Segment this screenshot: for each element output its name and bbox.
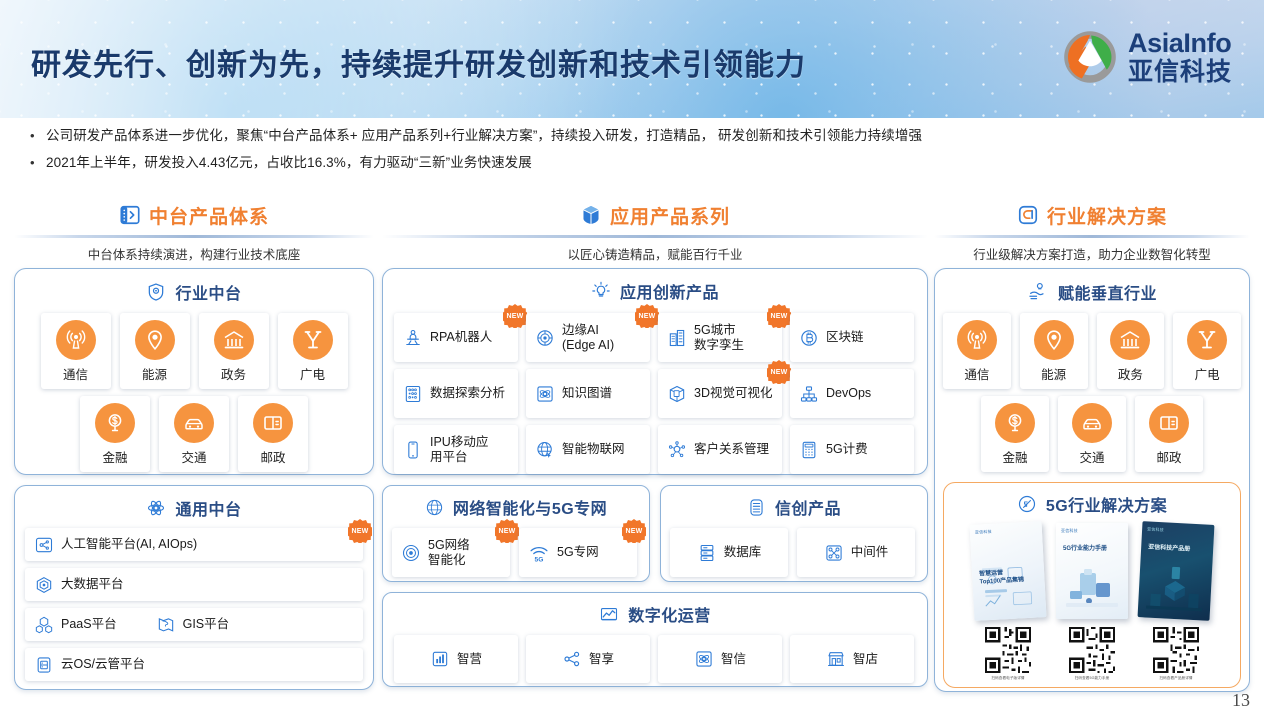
tile-label: 通信 <box>964 364 989 383</box>
column-divider <box>934 235 1250 238</box>
product-card-5g-private-network[interactable]: 5G 5G专网 NEW <box>519 528 637 577</box>
panel-network-5g: 网络智能化与5G专网 5G网络 智能化 NEW 5G 5G专网 NEW <box>382 485 650 582</box>
product-label: 数据库 <box>724 545 762 560</box>
panel-industry-midplatform: 行业中台 通信 能源 <box>14 268 374 475</box>
logo-text-cn: 亚信科技 <box>1128 60 1232 85</box>
product-card-3d-visual[interactable]: 3D视觉可视化 NEW <box>658 369 782 418</box>
vertical-industry-row-1: 通信 能源 政务 广电 <box>943 313 1241 389</box>
tile-telecom[interactable]: 通信 <box>41 313 111 389</box>
product-label: 云OS/云管平台 <box>61 657 145 672</box>
column-subtitle: 行业级解决方案打造，助力企业数智化转型 <box>934 244 1250 262</box>
globe-iot-icon <box>535 440 555 460</box>
wifi-5g-icon: 5G <box>528 543 550 563</box>
product-card-5g-digital-twin[interactable]: 5G城市 数字孪生 NEW <box>658 313 782 362</box>
tile-transport[interactable]: 交通 <box>1058 396 1126 472</box>
product-card-5g-network-intelligence[interactable]: 5G网络 智能化 NEW <box>392 528 510 577</box>
location-pin-icon <box>1034 320 1074 360</box>
bullet-marker: • <box>30 153 46 172</box>
logo-mark-icon <box>1061 28 1119 86</box>
bar-chart-icon <box>430 649 450 669</box>
tile-label: 交通 <box>1079 447 1104 466</box>
signal-tower-icon <box>957 320 997 360</box>
product-label: 边缘AI (Edge AI) <box>562 323 614 353</box>
product-label: 智享 <box>589 652 614 667</box>
column-header: 行业解决方案 <box>934 200 1250 230</box>
booklet-item[interactable]: 亚信科技 5G行业能力手册 <box>1056 523 1128 681</box>
lightbulb-icon <box>591 281 611 301</box>
edge-ai-icon <box>535 328 555 348</box>
qr-code-1[interactable] <box>985 627 1031 673</box>
knowledge-graph-icon <box>535 384 555 404</box>
panel-title-row: 信创产品 <box>670 492 918 522</box>
tile-energy[interactable]: 能源 <box>1020 313 1088 389</box>
panel-title: 网络智能化与5G专网 <box>453 495 607 519</box>
panel-title: 5G行业解决方案 <box>1046 492 1167 516</box>
devops-tree-icon <box>799 384 819 404</box>
new-badge: NEW <box>767 360 791 384</box>
product-card-zhiying[interactable]: 智营 <box>394 635 518 683</box>
product-label: 区块链 <box>826 330 864 345</box>
product-card-ipu-mobile[interactable]: IPU移动应 用平台 <box>394 425 518 474</box>
broadcast-antenna-icon <box>1187 320 1227 360</box>
product-label: PaaS平台 <box>61 617 117 632</box>
booklet-brand: 亚信科技 <box>975 529 992 536</box>
product-label: DevOps <box>826 386 871 401</box>
booklet-title: 智慧运营 Top100产品集锦 <box>979 568 1024 586</box>
tile-label: 金融 <box>1002 447 1027 466</box>
dollar-icon <box>995 403 1035 443</box>
panel-5g-solutions: 5G行业解决方案 亚信科技 <box>943 482 1241 688</box>
product-label: 5G专网 <box>557 545 599 560</box>
column-title: 行业解决方案 <box>1047 202 1167 229</box>
innovative-apps-row-1: RPA机器人 NEW 边缘AI (Edge AI) NEW 5G城市 数字孪生 … <box>394 313 916 362</box>
tile-label: 政务 <box>1118 364 1143 383</box>
atom-square-icon <box>694 649 714 669</box>
product-card-cloudos[interactable]: 云OS/云管平台 <box>25 648 363 681</box>
hand-bulb-icon <box>1027 281 1049 303</box>
product-label: 智店 <box>853 652 878 667</box>
tile-government[interactable]: 政务 <box>199 313 269 389</box>
product-card-paas-gis[interactable]: PaaS平台 GIS平台 <box>25 608 363 641</box>
mobile-phone-icon <box>403 440 423 460</box>
product-label: 中间件 <box>851 545 889 560</box>
booklet-title: 5G行业能力手册 <box>1063 545 1107 553</box>
page-number: 13 <box>1232 690 1250 711</box>
crm-network-icon <box>667 440 687 460</box>
tile-label: 交通 <box>181 447 206 466</box>
product-card-crm[interactable]: 客户关系管理 <box>658 425 782 474</box>
digital-operations-cards: 智营 智享 智信 智店 <box>394 635 916 683</box>
product-card-5g-billing[interactable]: 5G计费 <box>790 425 914 474</box>
innovative-apps-row-2: 数据探索分析 知识图谱 3D视觉可视化 NEW DevOps <box>394 369 916 418</box>
tile-post[interactable]: 邮政 <box>1135 396 1203 472</box>
column-midplatform: 中台产品体系 中台体系持续演进，构建行业技术底座 行业中台 通信 <box>14 200 374 690</box>
globe-network-icon <box>425 498 444 517</box>
bullet-marker: • <box>30 126 46 145</box>
panel-general-midplatform: 通用中台 人工智能平台(AI, AIOps) NEW 大数据平台 Paa <box>14 485 374 690</box>
product-label: GIS平台 <box>183 617 230 632</box>
tile-label: 通信 <box>63 364 88 383</box>
product-label: 5G城市 数字孪生 <box>694 323 744 353</box>
bullet-list: • 公司研发产品体系进一步优化，聚焦“中台产品体系+ 应用产品系列+行业解决方案… <box>0 126 1264 180</box>
new-badge: NEW <box>495 519 519 543</box>
3d-visual-icon <box>667 384 687 404</box>
cube-stack-icon <box>34 615 54 635</box>
product-card-ai-platform[interactable]: 人工智能平台(AI, AIOps) NEW <box>25 528 363 561</box>
column-header: 应用产品系列 <box>382 200 928 230</box>
panel-title: 信创产品 <box>775 495 841 519</box>
bank-icon <box>214 320 254 360</box>
panel-title: 行业中台 <box>175 280 241 304</box>
mid-secondary-panels: 网络智能化与5G专网 5G网络 智能化 NEW 5G 5G专网 NEW <box>382 485 928 582</box>
product-card-data-analysis[interactable]: 数据探索分析 <box>394 369 518 418</box>
column-title: 中台产品体系 <box>149 202 269 229</box>
share-nodes-icon <box>34 535 54 555</box>
product-label: 5G计费 <box>826 442 868 457</box>
innovative-apps-row-3: IPU移动应 用平台 智能物联网 客户关系管理 5G计费 <box>394 425 916 474</box>
hexagon-data-icon <box>34 575 54 595</box>
booklet-cover-3: 亚信科技 亚信科技产品册 <box>1138 521 1215 621</box>
xinchuang-cards: 数据库 中间件 <box>670 528 918 577</box>
bullet-item: • 公司研发产品体系进一步优化，聚焦“中台产品体系+ 应用产品系列+行业解决方案… <box>30 126 1264 145</box>
asiainfo-logo: AsiaInfo 亚信科技 <box>1061 28 1232 86</box>
product-label: 大数据平台 <box>61 577 124 592</box>
column-header: 中台产品体系 <box>14 200 374 230</box>
logo-text-en: AsiaInfo <box>1128 30 1232 57</box>
panel-title-row: 网络智能化与5G专网 <box>392 492 640 522</box>
atom-icon <box>146 498 166 518</box>
panel-title: 数字化运营 <box>628 602 711 626</box>
dollar-icon <box>95 403 135 443</box>
mailbox-icon <box>1149 403 1189 443</box>
new-badge: NEW <box>767 304 791 328</box>
booklet-brand: 亚信科技 <box>1061 528 1078 534</box>
shield-industry-icon <box>146 282 166 302</box>
booklet-cover-1: 亚信科技 智慧运营 Top100产品集锦 <box>970 521 1047 621</box>
tile-label: 广电 <box>1195 364 1220 383</box>
product-label: 智营 <box>457 652 482 667</box>
bitcoin-icon <box>799 328 819 348</box>
column-application-products: 应用产品系列 以匠心铸造精品，赋能百行千业 应用创新产品 RPA机器人 NEW <box>382 200 928 687</box>
product-label: IPU移动应 用平台 <box>430 435 488 465</box>
page-title: 研发先行、创新为先，持续提升研发创新和技术引领能力 <box>31 40 806 84</box>
tile-label: 政务 <box>221 364 246 383</box>
column-subtitle: 中台体系持续演进，构建行业技术底座 <box>14 244 374 262</box>
tile-label: 能源 <box>142 364 167 383</box>
vertical-industry-row-2: 金融 交通 邮政 <box>943 396 1241 472</box>
product-card-knowledge-graph[interactable]: 知识图谱 <box>526 369 650 418</box>
product-card-edge-ai[interactable]: 边缘AI (Edge AI) NEW <box>526 313 650 362</box>
slide-header: 研发先行、创新为先，持续提升研发创新和技术引领能力 AsiaInfo 亚信科技 <box>0 0 1264 118</box>
bank-icon <box>1110 320 1150 360</box>
city-building-icon <box>667 328 687 348</box>
tile-government[interactable]: 政务 <box>1097 313 1165 389</box>
product-card-rpa[interactable]: RPA机器人 NEW <box>394 313 518 362</box>
product-card-zhidian[interactable]: 智店 <box>790 635 914 683</box>
car-icon <box>174 403 214 443</box>
mailbox-icon <box>253 403 293 443</box>
midplatform-icon <box>119 204 141 226</box>
product-card-bigdata-platform[interactable]: 大数据平台 <box>25 568 363 601</box>
booklet-item[interactable]: 亚信科技 智慧运营 Top100产品集锦 <box>972 523 1044 681</box>
product-card-blockchain[interactable]: 区块链 <box>790 313 914 362</box>
network-5g-cards: 5G网络 智能化 NEW 5G 5G专网 NEW <box>392 528 640 577</box>
qr-code-3[interactable] <box>1153 627 1199 673</box>
tile-label: 广电 <box>300 364 325 383</box>
car-icon <box>1072 403 1112 443</box>
industry-tile-row-2: 金融 交通 邮政 <box>25 396 363 472</box>
bullet-text: 2021年上半年，研发投入4.43亿元，占收比16.3%，有力驱动“三新”业务快… <box>46 153 532 172</box>
panel-title-row: 5G行业解决方案 <box>950 489 1234 519</box>
panel-digital-operations: 数字化运营 智营 智享 智信 智店 <box>382 592 928 687</box>
column-industry-solutions: 行业解决方案 行业级解决方案打造，助力企业数智化转型 赋能垂直行业 <box>934 200 1250 692</box>
tile-energy[interactable]: 能源 <box>120 313 190 389</box>
tile-label: 邮政 <box>1156 447 1181 466</box>
new-badge: NEW <box>635 304 659 328</box>
solution-icon <box>1017 204 1039 226</box>
document-stack-icon <box>747 498 766 517</box>
product-card-zhixiang[interactable]: 智享 <box>526 635 650 683</box>
panel-innovative-apps: 应用创新产品 RPA机器人 NEW 边缘AI (Edge AI) NEW 5G城… <box>382 268 928 475</box>
product-label: 智信 <box>721 652 746 667</box>
tile-label: 能源 <box>1041 364 1066 383</box>
tile-finance[interactable]: 金融 <box>981 396 1049 472</box>
5g-solution-icon <box>1017 494 1037 514</box>
booklet-title: 亚信科技产品册 <box>1148 544 1190 554</box>
trend-chart-icon <box>599 604 619 624</box>
product-card-zhixin[interactable]: 智信 <box>658 635 782 683</box>
tile-label: 邮政 <box>260 447 285 466</box>
middleware-icon <box>824 543 844 563</box>
share-icon <box>562 649 582 669</box>
panel-title: 赋能垂直行业 <box>1058 280 1157 304</box>
map-icon <box>156 615 176 635</box>
product-label: 智能物联网 <box>562 442 625 457</box>
broadcast-antenna-icon <box>293 320 333 360</box>
database-icon <box>697 543 717 563</box>
tile-telecom[interactable]: 通信 <box>943 313 1011 389</box>
panel-title-row: 行业中台 <box>25 277 363 307</box>
cube-product-icon <box>580 204 602 226</box>
tile-label: 金融 <box>102 447 127 466</box>
tile-transport[interactable]: 交通 <box>159 396 229 472</box>
product-card-middleware[interactable]: 中间件 <box>797 528 915 577</box>
signal-tower-icon <box>56 320 96 360</box>
industry-tile-row-1: 通信 能源 政务 广电 <box>25 313 363 389</box>
product-label: RPA机器人 <box>430 330 492 345</box>
bullet-text: 公司研发产品体系进一步优化，聚焦“中台产品体系+ 应用产品系列+行业解决方案”，… <box>46 126 922 145</box>
booklet-artwork-3 <box>1144 563 1206 612</box>
data-analysis-icon <box>403 384 423 404</box>
product-card-devops[interactable]: DevOps <box>790 369 914 418</box>
booklet-gallery: 亚信科技 智慧运营 Top100产品集锦 <box>950 519 1234 681</box>
bullet-item: • 2021年上半年，研发投入4.43亿元，占收比16.3%，有力驱动“三新”业… <box>30 153 1264 172</box>
tile-finance[interactable]: 金融 <box>80 396 150 472</box>
location-pin-icon <box>135 320 175 360</box>
content-columns: 中台产品体系 中台体系持续演进，构建行业技术底座 行业中台 通信 <box>0 200 1264 713</box>
product-label: 客户关系管理 <box>694 442 769 457</box>
panel-title-row: 赋能垂直行业 <box>943 277 1241 307</box>
booklet-item[interactable]: 亚信科技 亚信科技产品册 <box>1140 523 1212 681</box>
panel-title: 应用创新产品 <box>620 279 719 303</box>
panel-industry-solutions-outer: 赋能垂直行业 通信 能源 <box>934 268 1250 692</box>
panel-title: 通用中台 <box>175 496 241 520</box>
column-divider <box>382 235 928 238</box>
tile-broadcast[interactable]: 广电 <box>1173 313 1241 389</box>
svg-text:5G: 5G <box>535 556 544 563</box>
panel-title-row: 应用创新产品 <box>394 276 916 306</box>
target-circle-icon <box>401 543 421 563</box>
new-badge: NEW <box>503 304 527 328</box>
robot-icon <box>403 328 423 348</box>
panel-title-row: 通用中台 <box>25 493 363 523</box>
panel-xinchuang: 信创产品 数据库 中间件 <box>660 485 928 582</box>
column-divider <box>14 235 374 238</box>
product-label: 5G网络 智能化 <box>428 538 470 568</box>
new-badge: NEW <box>622 519 646 543</box>
store-icon <box>826 649 846 669</box>
panel-title-row: 数字化运营 <box>394 599 916 629</box>
tile-post[interactable]: 邮政 <box>238 396 308 472</box>
booklet-artwork-2 <box>1062 565 1122 611</box>
column-title: 应用产品系列 <box>610 202 730 229</box>
product-card-database[interactable]: 数据库 <box>670 528 788 577</box>
product-label: 数据探索分析 <box>430 386 505 401</box>
qr-code-2[interactable] <box>1069 627 1115 673</box>
product-label: 3D视觉可视化 <box>694 386 772 401</box>
product-card-smart-iot[interactable]: 智能物联网 <box>526 425 650 474</box>
product-label: 人工智能平台(AI, AIOps) <box>61 537 197 552</box>
product-label: 知识图谱 <box>562 386 612 401</box>
qr-caption: 扫码查看电子版详情 <box>991 676 1024 681</box>
calculator-icon <box>799 440 819 460</box>
server-cloud-icon <box>34 655 54 675</box>
tile-broadcast[interactable]: 广电 <box>278 313 348 389</box>
booklet-brand: 亚信科技 <box>1147 526 1164 533</box>
column-subtitle: 以匠心铸造精品，赋能百行千业 <box>382 244 928 262</box>
qr-caption: 扫码查看5G能力手册 <box>1075 676 1110 681</box>
qr-caption: 扫码查看产品册详情 <box>1159 676 1192 681</box>
booklet-cover-2: 亚信科技 5G行业能力手册 <box>1056 523 1128 619</box>
